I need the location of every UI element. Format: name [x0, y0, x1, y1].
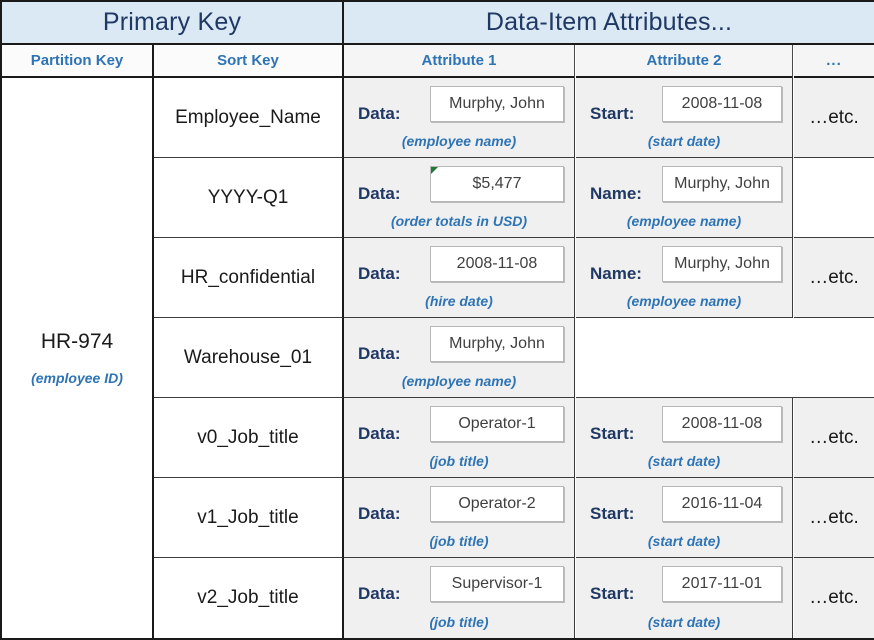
sort-key-value: HR_confidential [181, 267, 315, 289]
table-row-attribute-1: Data: 2008-11-08 (hire date) [344, 238, 575, 318]
partition-key-cell: HR-974 (employee ID) [2, 78, 154, 638]
table-row-attribute-1: Data: Murphy, John (employee name) [344, 78, 575, 158]
header-group-divider [342, 2, 344, 45]
attribute-note: (job title) [344, 614, 574, 630]
attribute-note: (start date) [576, 453, 792, 469]
attribute-note: (hire date) [344, 293, 574, 309]
attribute-value-box: Supervisor-1 [430, 566, 564, 602]
table-row-sort-key: v2_Job_title [154, 558, 344, 638]
table-row-sort-key: v0_Job_title [154, 398, 344, 478]
column-header-more-label: ... [826, 52, 842, 69]
attribute-label: Data: [358, 504, 401, 524]
attribute-value-box: 2008-11-08 [662, 86, 782, 122]
attribute-value-box: Murphy, John [662, 246, 782, 282]
header-group-data-item-attributes-label: Data-Item Attributes... [486, 8, 732, 37]
table-row-sort-key: HR_confidential [154, 238, 344, 318]
attribute-label: Name: [590, 264, 642, 284]
etc-label: …etc. [809, 427, 859, 449]
column-header-partition-key-label: Partition Key [31, 52, 124, 69]
attribute-label: Start: [590, 104, 634, 124]
error-flag-icon [431, 167, 438, 174]
table-row-etc [794, 158, 874, 238]
attribute-value: $5,477 [473, 175, 522, 193]
attribute-value: Murphy, John [449, 335, 545, 353]
table-row-sort-key: Warehouse_01 [154, 318, 344, 398]
header-divider-attr2-more [792, 45, 793, 78]
etc-label: …etc. [809, 587, 859, 609]
attribute-label: Name: [590, 184, 642, 204]
attribute-note: (employee name) [344, 133, 574, 149]
attribute-note: (start date) [576, 533, 792, 549]
header-divider-partition-sort [152, 45, 154, 78]
attribute-value: Operator-2 [458, 495, 535, 513]
attribute-note: (job title) [344, 453, 574, 469]
attribute-note: (start date) [576, 133, 792, 149]
column-header-attribute-1: Attribute 1 [344, 45, 574, 78]
attribute-note: (employee name) [576, 213, 792, 229]
table-row-attribute-2: Start: 2008-11-08 (start date) [576, 398, 793, 478]
attribute-label: Start: [590, 424, 634, 444]
attribute-label: Data: [358, 584, 401, 604]
table-row-attribute-1: Data: Operator-2 (job title) [344, 478, 575, 558]
attribute-value: Murphy, John [674, 175, 770, 193]
header-group-primary-key-label: Primary Key [103, 8, 241, 37]
attribute-label: Data: [358, 424, 401, 444]
table-row-attribute-1: Data: Supervisor-1 (job title) [344, 558, 575, 638]
attribute-label: Start: [590, 584, 634, 604]
etc-label: …etc. [809, 267, 859, 289]
column-header-attribute-2: Attribute 2 [576, 45, 792, 78]
table-row-etc: …etc. [794, 78, 874, 158]
column-header-sort-key-label: Sort Key [217, 52, 279, 69]
sort-key-value: Employee_Name [175, 107, 321, 129]
attribute-value-box: 2017-11-01 [662, 566, 782, 602]
sort-key-value: v2_Job_title [197, 587, 298, 609]
attribute-value-box: $5,477 [430, 166, 564, 202]
attribute-value: 2008-11-08 [682, 415, 763, 433]
attribute-note: (job title) [344, 533, 574, 549]
attribute-value-box: 2008-11-08 [430, 246, 564, 282]
attribute-value: Operator-1 [458, 415, 535, 433]
table-row-attribute-1: Data: Murphy, John (employee name) [344, 318, 575, 398]
sort-key-value: Warehouse_01 [184, 347, 312, 369]
table-row-attribute-2-empty [576, 318, 874, 398]
table-row-sort-key: YYYY-Q1 [154, 158, 344, 238]
column-header-attribute-1-label: Attribute 1 [422, 52, 497, 69]
table-row-sort-key: Employee_Name [154, 78, 344, 158]
attribute-value: 2017-11-01 [682, 575, 763, 593]
partition-key-value: HR-974 [41, 330, 113, 354]
header-group-data-item-attributes: Data-Item Attributes... [344, 2, 874, 45]
attribute-value-box: Operator-1 [430, 406, 564, 442]
attribute-value: 2016-11-04 [682, 495, 763, 513]
attribute-note: (employee name) [576, 293, 792, 309]
attribute-label: Data: [358, 184, 401, 204]
dynamodb-table-diagram: Primary Key Data-Item Attributes... Part… [0, 0, 874, 640]
column-header-attribute-2-label: Attribute 2 [647, 52, 722, 69]
table-row-attribute-2: Start: 2017-11-01 (start date) [576, 558, 793, 638]
attribute-label: Data: [358, 344, 401, 364]
attribute-label: Data: [358, 264, 401, 284]
attribute-label: Start: [590, 504, 634, 524]
attribute-value-box: Murphy, John [430, 86, 564, 122]
attribute-value-box: Operator-2 [430, 486, 564, 522]
sort-key-value: v1_Job_title [197, 507, 298, 529]
attribute-value-box: Murphy, John [430, 326, 564, 362]
table-row-etc: …etc. [794, 478, 874, 558]
attribute-value: 2008-11-08 [457, 255, 538, 273]
etc-label: …etc. [809, 507, 859, 529]
etc-label: …etc. [809, 107, 859, 129]
column-header-partition-key: Partition Key [2, 45, 152, 78]
table-row-attribute-2: Name: Murphy, John (employee name) [576, 158, 793, 238]
attribute-value: 2008-11-08 [682, 95, 763, 113]
attribute-value-box: 2008-11-08 [662, 406, 782, 442]
header-group-primary-key: Primary Key [2, 2, 342, 45]
attribute-note: (order totals in USD) [344, 213, 574, 229]
table-row-attribute-1: Data: Operator-1 (job title) [344, 398, 575, 478]
header-divider-sort-attr1 [342, 45, 344, 78]
attribute-note: (start date) [576, 614, 792, 630]
table-row-attribute-2: Start: 2016-11-04 (start date) [576, 478, 793, 558]
attribute-value: Murphy, John [449, 95, 545, 113]
header-divider-attr1-attr2 [574, 45, 575, 78]
table-row-sort-key: v1_Job_title [154, 478, 344, 558]
column-header-sort-key: Sort Key [154, 45, 342, 78]
attribute-label: Data: [358, 104, 401, 124]
table-row-etc: …etc. [794, 558, 874, 638]
attribute-value-box: 2016-11-04 [662, 486, 782, 522]
attribute-note: (employee name) [344, 373, 574, 389]
sort-key-value: v0_Job_title [197, 427, 298, 449]
partition-key-note: (employee ID) [31, 370, 123, 386]
table-row-etc: …etc. [794, 238, 874, 318]
column-header-more: ... [794, 45, 874, 78]
attribute-value: Supervisor-1 [452, 575, 543, 593]
sort-key-value: YYYY-Q1 [208, 187, 289, 209]
table-row-attribute-2: Name: Murphy, John (employee name) [576, 238, 793, 318]
table-row-etc: …etc. [794, 398, 874, 478]
attribute-value: Murphy, John [674, 255, 770, 273]
table-row-attribute-1: Data: $5,477 (order totals in USD) [344, 158, 575, 238]
attribute-value-box: Murphy, John [662, 166, 782, 202]
table-row-attribute-2: Start: 2008-11-08 (start date) [576, 78, 793, 158]
